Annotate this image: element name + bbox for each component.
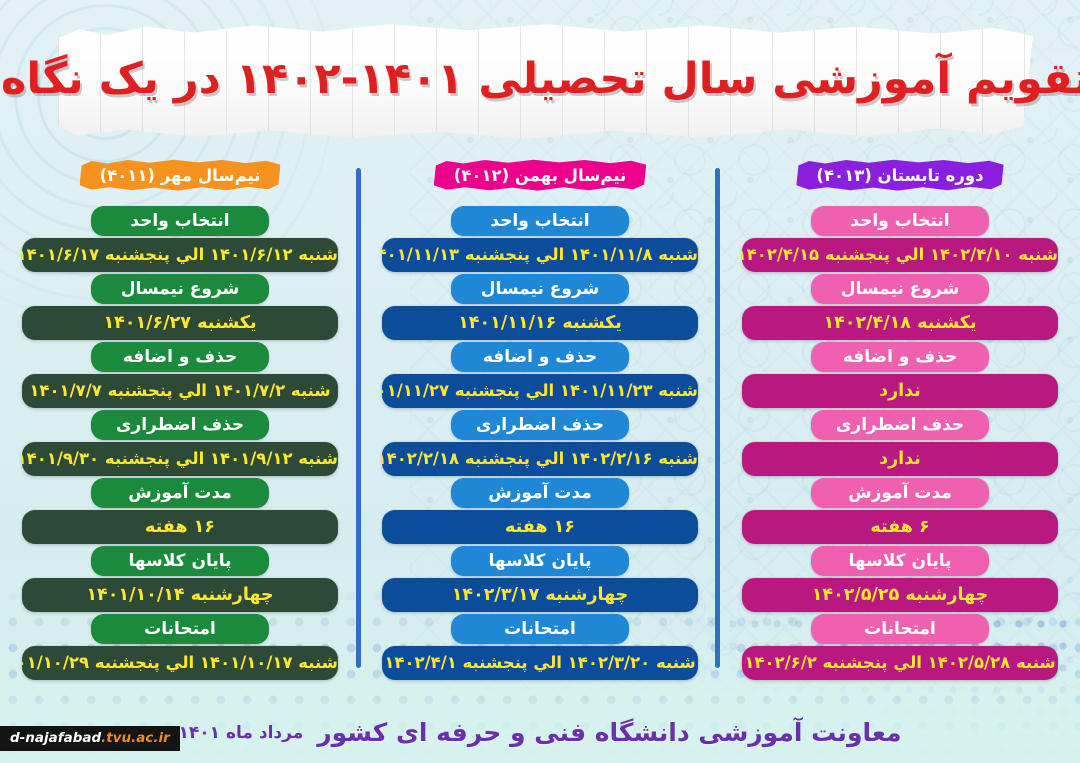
calendar-row: حذف اضطراریشنبه ۱۴۰۲/۲/۱۶ الي پنجشنبه ۱۴…	[382, 410, 698, 476]
column-badge-label: دوره تابستان (۴۰۱۳)	[796, 158, 1003, 192]
row-label: حذف اضطراری	[811, 410, 989, 440]
calendar-row: مدت آموزش۱۶ هفته	[382, 478, 698, 544]
row-label: امتحانات	[91, 614, 269, 644]
calendar-row: مدت آموزش۶ هفته	[742, 478, 1058, 544]
url-name: d-najafabad	[10, 730, 101, 746]
calendar-column-tabestan: دوره تابستان (۴۰۱۳)انتخاب واحدشنبه ۱۴۰۲/…	[720, 158, 1080, 678]
column-header-mehr: نیم‌سال مهر (۴۰۱۱)	[22, 158, 338, 204]
row-value: یکشنبه ۱۴۰۱/۶/۲۷	[22, 306, 338, 340]
row-label: حذف اضطراری	[91, 410, 269, 440]
row-value: ۱۶ هفته	[382, 510, 698, 544]
calendar-row: حذف اضطراریشنبه ۱۴۰۱/۹/۱۲ الي پنجشنبه ۱۴…	[22, 410, 338, 476]
footer-organization: معاونت آموزشی دانشگاه فنی و حرفه ای کشور	[317, 718, 901, 747]
row-label: حذف و اضافه	[91, 342, 269, 372]
calendar-row: امتحاناتشنبه ۱۴۰۲/۳/۲۰ الي پنجشنبه ۱۴۰۲/…	[382, 614, 698, 680]
column-badge-label: نیم‌سال بهمن (۴۰۱۲)	[434, 158, 646, 192]
row-label: شروع نیمسال	[91, 274, 269, 304]
row-value: چهارشنبه ۱۴۰۱/۱۰/۱۴	[22, 578, 338, 612]
row-value: شنبه ۱۴۰۱/۷/۲ الي پنجشنبه ۱۴۰۱/۷/۷	[22, 374, 338, 408]
row-value: ۶ هفته	[742, 510, 1058, 544]
row-label: حذف و اضافه	[811, 342, 989, 372]
calendar-row: انتخاب واحدشنبه ۱۴۰۱/۶/۱۲ الي پنجشنبه ۱۴…	[22, 206, 338, 272]
row-value: شنبه ۱۴۰۲/۵/۲۸ الي پنجشنبه ۱۴۰۲/۶/۲	[742, 646, 1058, 680]
calendar-row: شروع نیمسالیکشنبه ۱۴۰۲/۴/۱۸	[742, 274, 1058, 340]
calendar-row: انتخاب واحدشنبه ۱۴۰۱/۱۱/۸ الي پنجشنبه ۱۴…	[382, 206, 698, 272]
calendar-row: انتخاب واحدشنبه ۱۴۰۲/۴/۱۰ الي پنجشنبه ۱۴…	[742, 206, 1058, 272]
website-url-badge[interactable]: d-najafabad.tvu.ac.ir	[0, 726, 180, 751]
column-header-bahman: نیم‌سال بهمن (۴۰۱۲)	[382, 158, 698, 204]
column-header-tabestan: دوره تابستان (۴۰۱۳)	[742, 158, 1058, 204]
row-value: شنبه ۱۴۰۱/۹/۱۲ الي پنجشنبه ۱۴۰۱/۹/۳۰	[22, 442, 338, 476]
row-value: شنبه ۱۴۰۱/۱۰/۱۷ الي پنجشنبه ۱۴۰۱/۱۰/۲۹	[22, 646, 338, 680]
row-label: پایان کلاسها	[91, 546, 269, 576]
row-label: انتخاب واحد	[91, 206, 269, 236]
row-value: شنبه ۱۴۰۱/۱۱/۸ الي پنجشنبه ۱۴۰۱/۱۱/۱۳	[382, 238, 698, 272]
calendar-row: حذف و اضافهشنبه ۱۴۰۱/۱۱/۲۳ الي پنجشنبه ۱…	[382, 342, 698, 408]
row-value: یکشنبه ۱۴۰۲/۴/۱۸	[742, 306, 1058, 340]
column-rows: انتخاب واحدشنبه ۱۴۰۱/۱۱/۸ الي پنجشنبه ۱۴…	[382, 206, 698, 680]
calendar-row: امتحاناتشنبه ۱۴۰۲/۵/۲۸ الي پنجشنبه ۱۴۰۲/…	[742, 614, 1058, 680]
row-value: شنبه ۱۴۰۲/۳/۲۰ الي پنجشنبه ۱۴۰۲/۴/۱	[382, 646, 698, 680]
row-value: شنبه ۱۴۰۱/۶/۱۲ الي پنجشنبه ۱۴۰۱/۶/۱۷	[22, 238, 338, 272]
row-label: پایان کلاسها	[811, 546, 989, 576]
row-label: امتحانات	[451, 614, 629, 644]
calendar-row: حذف و اضافهندارد	[742, 342, 1058, 408]
row-label: مدت آموزش	[451, 478, 629, 508]
calendar-row: امتحاناتشنبه ۱۴۰۱/۱۰/۱۷ الي پنجشنبه ۱۴۰۱…	[22, 614, 338, 680]
calendar-row: پایان کلاسهاچهارشنبه ۱۴۰۲/۵/۲۵	[742, 546, 1058, 612]
calendar-column-bahman: نیم‌سال بهمن (۴۰۱۲)انتخاب واحدشنبه ۱۴۰۱/…	[360, 158, 720, 678]
row-value: ۱۶ هفته	[22, 510, 338, 544]
row-value: ندارد	[742, 442, 1058, 476]
column-rows: انتخاب واحدشنبه ۱۴۰۱/۶/۱۲ الي پنجشنبه ۱۴…	[22, 206, 338, 680]
calendar-columns: دوره تابستان (۴۰۱۳)انتخاب واحدشنبه ۱۴۰۲/…	[0, 158, 1080, 678]
calendar-row: حذف اضطراریندارد	[742, 410, 1058, 476]
row-label: پایان کلاسها	[451, 546, 629, 576]
calendar-row: پایان کلاسهاچهارشنبه ۱۴۰۲/۳/۱۷	[382, 546, 698, 612]
row-value: شنبه ۱۴۰۲/۲/۱۶ الي پنجشنبه ۱۴۰۲/۲/۱۸	[382, 442, 698, 476]
calendar-row: شروع نیمسالیکشنبه ۱۴۰۱/۶/۲۷	[22, 274, 338, 340]
row-label: شروع نیمسال	[811, 274, 989, 304]
row-label: امتحانات	[811, 614, 989, 644]
row-label: حذف اضطراری	[451, 410, 629, 440]
row-value: شنبه ۱۴۰۲/۴/۱۰ الي پنجشنبه ۱۴۰۲/۴/۱۵	[742, 238, 1058, 272]
column-badge-label: نیم‌سال مهر (۴۰۱۱)	[80, 158, 281, 192]
row-value: چهارشنبه ۱۴۰۲/۳/۱۷	[382, 578, 698, 612]
row-value: یکشنبه ۱۴۰۱/۱۱/۱۶	[382, 306, 698, 340]
row-value: شنبه ۱۴۰۱/۱۱/۲۳ الي پنجشنبه ۱۴۰۱/۱۱/۲۷	[382, 374, 698, 408]
calendar-column-mehr: نیم‌سال مهر (۴۰۱۱)انتخاب واحدشنبه ۱۴۰۱/۶…	[0, 158, 360, 678]
row-value: چهارشنبه ۱۴۰۲/۵/۲۵	[742, 578, 1058, 612]
row-label: حذف و اضافه	[451, 342, 629, 372]
column-rows: انتخاب واحدشنبه ۱۴۰۲/۴/۱۰ الي پنجشنبه ۱۴…	[742, 206, 1058, 680]
row-label: انتخاب واحد	[451, 206, 629, 236]
calendar-row: پایان کلاسهاچهارشنبه ۱۴۰۱/۱۰/۱۴	[22, 546, 338, 612]
calendar-row: مدت آموزش۱۶ هفته	[22, 478, 338, 544]
row-label: مدت آموزش	[811, 478, 989, 508]
footer-date: مرداد ماه ۱۴۰۱	[179, 723, 304, 743]
url-tld: .tvu.ac.ir	[101, 730, 170, 746]
page-title: تقویم آموزشی سال تحصیلی ۱۴۰۱-۱۴۰۲ در یک …	[58, 22, 1033, 140]
row-label: انتخاب واحد	[811, 206, 989, 236]
row-value: ندارد	[742, 374, 1058, 408]
row-label: مدت آموزش	[91, 478, 269, 508]
title-banner: تقویم آموزشی سال تحصیلی ۱۴۰۱-۱۴۰۲ در یک …	[58, 22, 1033, 140]
calendar-row: حذف و اضافهشنبه ۱۴۰۱/۷/۲ الي پنجشنبه ۱۴۰…	[22, 342, 338, 408]
row-label: شروع نیمسال	[451, 274, 629, 304]
calendar-row: شروع نیمسالیکشنبه ۱۴۰۱/۱۱/۱۶	[382, 274, 698, 340]
